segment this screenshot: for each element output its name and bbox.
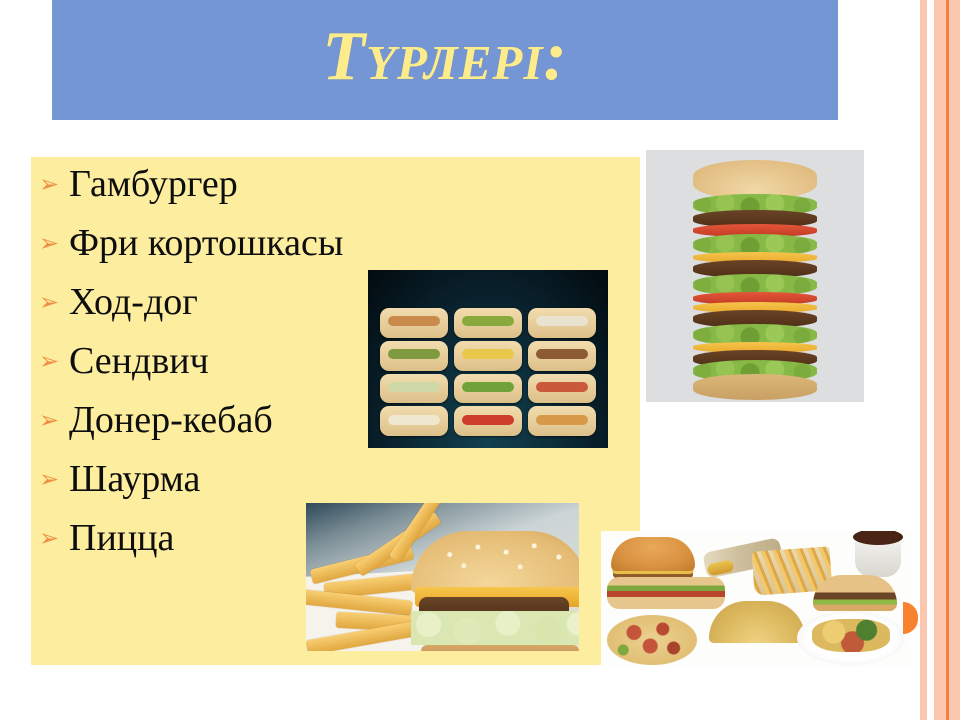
sandwich	[607, 577, 725, 609]
burger-stack	[693, 160, 817, 392]
arrow-bullet-icon: ➢	[39, 290, 69, 314]
arrow-bullet-icon: ➢	[39, 349, 69, 373]
hot-dog	[454, 406, 522, 436]
arrow-bullet-icon: ➢	[39, 172, 69, 196]
slide: Түрлері: ➢ Гамбургер ➢ Фри кортошкасы ➢ …	[0, 0, 960, 720]
taco	[709, 601, 805, 643]
stacked-burger-photo	[646, 150, 864, 402]
slide-title-band: Түрлері:	[52, 0, 838, 120]
hot-dog	[380, 308, 448, 338]
edge-stripe-wide-light	[934, 0, 946, 720]
lettuce	[411, 611, 579, 645]
list-item-label: Шаурма	[69, 460, 200, 498]
hot-dogs-grid-photo	[368, 270, 608, 448]
list-item-label: Фри кортошкасы	[69, 224, 343, 262]
hot-dog	[380, 406, 448, 436]
hot-dog	[380, 374, 448, 404]
arrow-bullet-icon: ➢	[39, 408, 69, 432]
hot-dog	[454, 374, 522, 404]
bun-bottom	[693, 374, 817, 400]
fast-food-collage-photo	[601, 531, 911, 667]
list-item-label: Ход-дог	[69, 283, 198, 321]
arrow-bullet-icon: ➢	[39, 231, 69, 255]
hot-dog	[528, 341, 596, 371]
hot-dog	[528, 308, 596, 338]
bun-top	[411, 531, 579, 593]
burger	[813, 575, 897, 611]
arrow-bullet-icon: ➢	[39, 526, 69, 550]
food-plate	[797, 611, 905, 665]
hot-dog	[454, 341, 522, 371]
cheeseburger	[411, 525, 579, 651]
list-item-label: Сендвич	[69, 342, 209, 380]
hot-dog	[454, 308, 522, 338]
bun-bottom	[421, 645, 579, 651]
fries-and-burger-photo	[306, 503, 579, 651]
arrow-bullet-icon: ➢	[39, 467, 69, 491]
hot-dog-grid	[380, 308, 596, 436]
open-burger	[611, 537, 695, 571]
soda-cup	[855, 535, 901, 577]
edge-stripe-inner-light	[949, 0, 960, 720]
list-item-label: Гамбургер	[69, 165, 238, 203]
hot-dog	[528, 406, 596, 436]
list-item-label: Пицца	[69, 519, 174, 557]
hot-dog	[380, 341, 448, 371]
edge-accent-dot	[903, 602, 918, 634]
pizza	[607, 615, 697, 665]
list-item-label: Донер-кебаб	[69, 401, 273, 439]
page-title: Түрлері:	[322, 22, 567, 98]
hot-dog	[528, 374, 596, 404]
edge-stripe-outer-light	[920, 0, 927, 720]
list-item[interactable]: ➢ Гамбургер	[39, 165, 439, 224]
